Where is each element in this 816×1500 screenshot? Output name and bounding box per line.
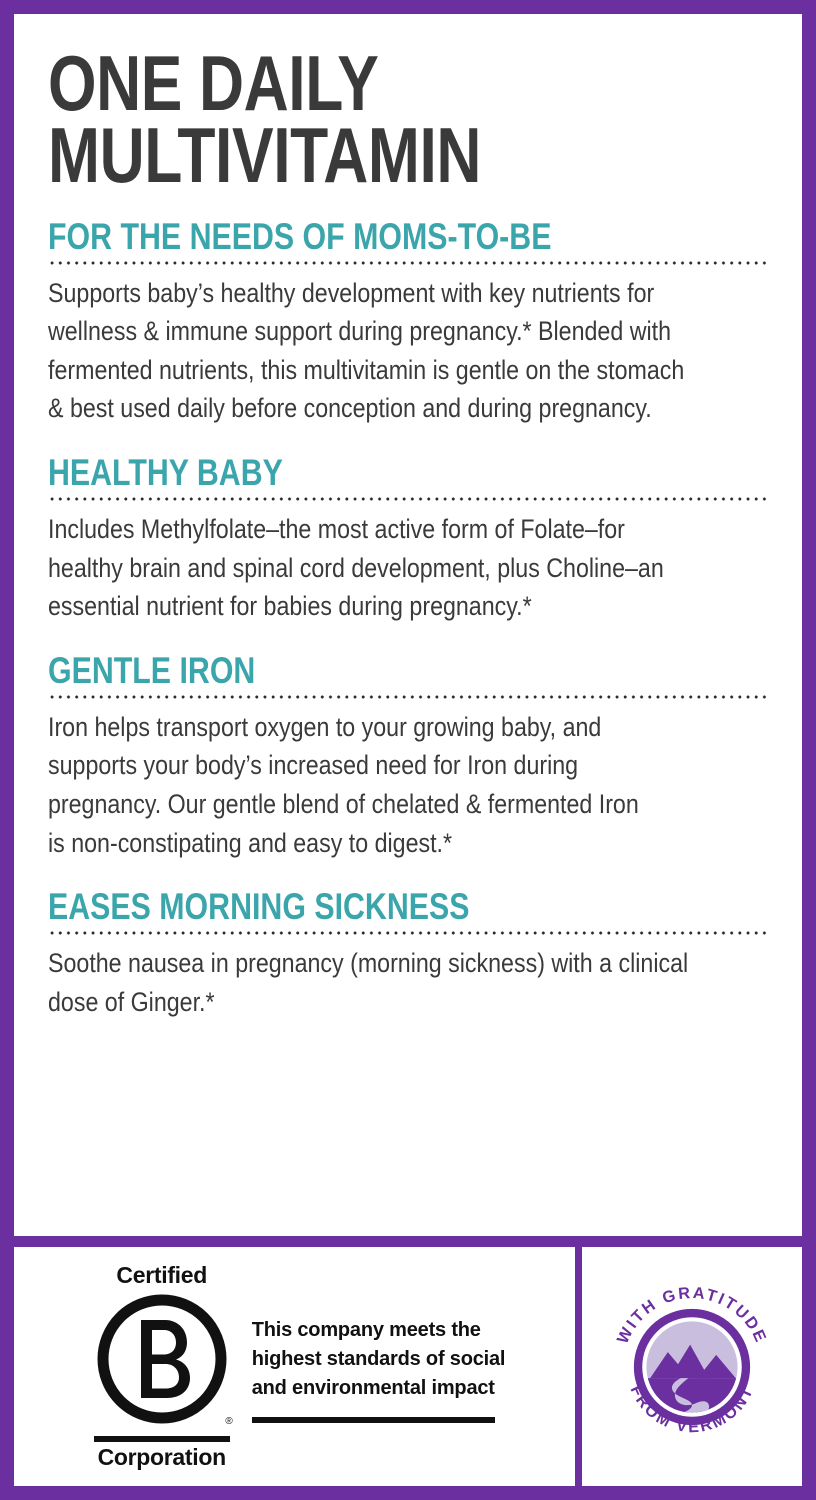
body-line: healthy brain and spinal cord developmen… — [48, 549, 768, 588]
dotted-divider — [48, 695, 770, 699]
section-body: Soothe nausea in pregnancy (morning sick… — [48, 944, 768, 1021]
section-heading: FOR THE NEEDS OF MOMS-TO-BE — [48, 218, 768, 255]
body-line: Supports baby’s healthy development with… — [48, 274, 768, 313]
dotted-divider — [48, 931, 770, 935]
section-body: Supports baby’s healthy development with… — [48, 274, 768, 428]
section-moms-to-be: FOR THE NEEDS OF MOMS-TO-BE Supports bab… — [48, 218, 768, 428]
footer-panel: Certified ® Corporation This company mee… — [14, 1247, 802, 1486]
section-eases-morning-sickness: EASES MORNING SICKNESS Soothe nausea in … — [48, 888, 768, 1021]
bcorp-statement-line: This company meets the — [252, 1316, 481, 1345]
section-heading: GENTLE IRON — [48, 652, 768, 689]
body-line: Iron helps transport oxygen to your grow… — [48, 708, 768, 747]
product-label: ONE DAILY MULTIVITAMIN FOR THE NEEDS OF … — [0, 0, 816, 1500]
body-line: essential nutrient for babies during pre… — [48, 587, 768, 626]
dotted-divider — [48, 261, 770, 265]
body-line: Soothe nausea in pregnancy (morning sick… — [48, 944, 768, 983]
bcorp-statement-line: highest standards of social — [252, 1345, 506, 1374]
body-line: wellness & immune support during pregnan… — [48, 312, 768, 351]
bcorp-mark: Certified ® Corporation — [94, 1263, 230, 1470]
bcorp-corporation-label: Corporation — [98, 1445, 226, 1470]
section-heading: HEALTHY BABY — [48, 454, 768, 491]
body-line: dose of Ginger.* — [48, 983, 768, 1022]
bcorp-certification: Certified ® Corporation This company mee… — [14, 1247, 575, 1486]
bcorp-rule — [94, 1436, 230, 1442]
footer-vertical-divider — [575, 1247, 582, 1486]
title-line-2: MULTIVITAMIN — [48, 120, 768, 192]
bcorp-statement-line: and environmental impact — [252, 1374, 495, 1403]
body-line: pregnancy. Our gentle blend of chelated … — [48, 785, 768, 824]
with-gratitude-from-vermont-badge: WITH GRATITUDE FROM VERMONT — [599, 1274, 785, 1460]
main-content-panel: ONE DAILY MULTIVITAMIN FOR THE NEEDS OF … — [14, 14, 802, 1236]
title-line-1: ONE DAILY — [48, 48, 768, 120]
bcorp-certified-label: Certified — [116, 1263, 207, 1288]
body-line: Includes Methylfolate–the most active fo… — [48, 510, 768, 549]
section-gentle-iron: GENTLE IRON Iron helps transport oxygen … — [48, 652, 768, 862]
bcorp-b-icon: ® — [95, 1292, 229, 1431]
bcorp-statement-rule — [252, 1417, 495, 1423]
body-line: is non-constipating and easy to digest.* — [48, 824, 768, 863]
body-line: & best used daily before conception and … — [48, 389, 768, 428]
page-title: ONE DAILY MULTIVITAMIN — [48, 48, 768, 192]
bcorp-statement: This company meets the highest standards… — [252, 1310, 506, 1423]
vermont-badge-container: WITH GRATITUDE FROM VERMONT — [582, 1247, 802, 1486]
body-line: supports your body’s increased need for … — [48, 746, 768, 785]
section-body: Iron helps transport oxygen to your grow… — [48, 708, 768, 862]
dotted-divider — [48, 497, 770, 501]
body-line: fermented nutrients, this multivitamin i… — [48, 351, 768, 390]
section-heading: EASES MORNING SICKNESS — [48, 888, 768, 925]
section-body: Includes Methylfolate–the most active fo… — [48, 510, 768, 626]
section-healthy-baby: HEALTHY BABY Includes Methylfolate–the m… — [48, 454, 768, 626]
registered-trademark-icon: ® — [225, 1416, 232, 1427]
